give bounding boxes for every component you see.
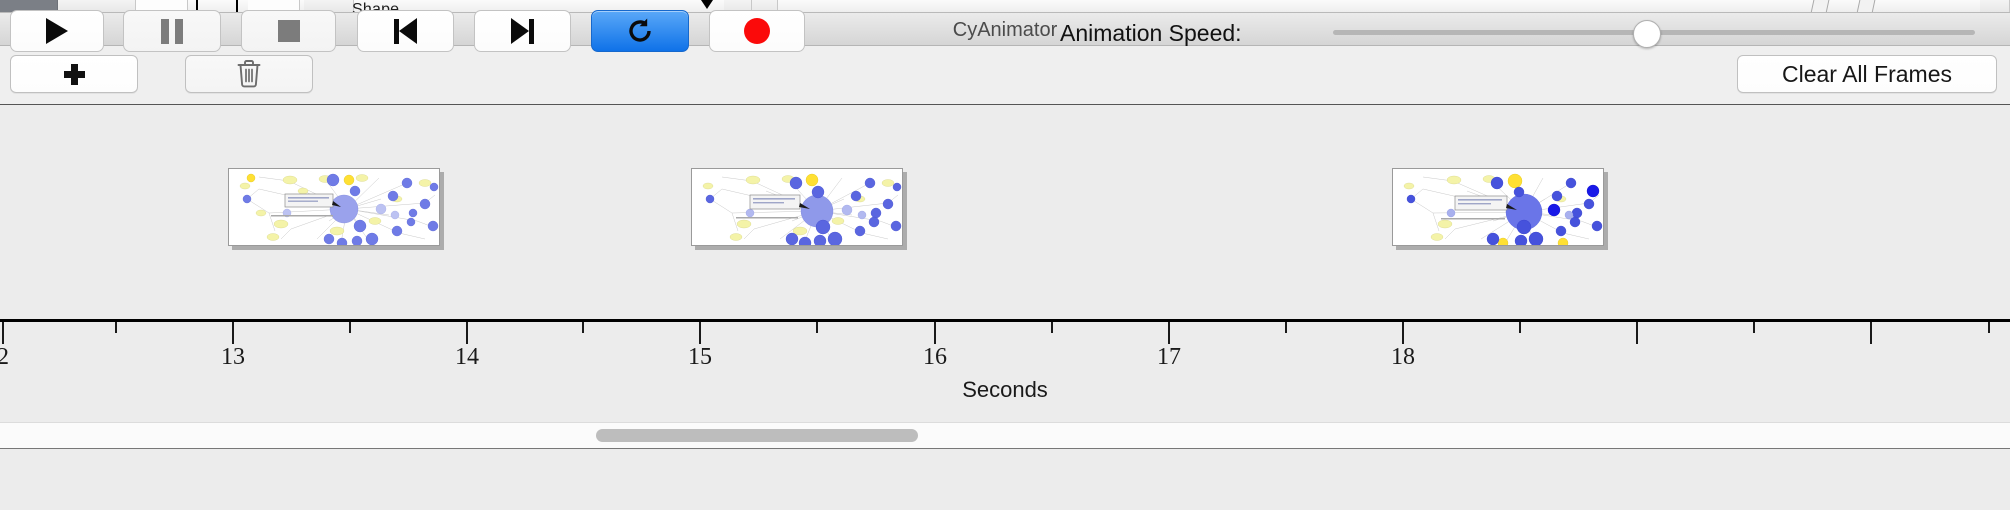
ruler-tick-minor bbox=[1988, 322, 1990, 333]
delete-frame-button[interactable] bbox=[185, 55, 313, 93]
network-graph-preview bbox=[692, 169, 903, 246]
loop-button[interactable] bbox=[591, 10, 689, 52]
ruler-tick-minor bbox=[1753, 322, 1755, 333]
skip-forward-icon bbox=[511, 18, 534, 44]
add-frame-button[interactable] bbox=[10, 55, 138, 93]
ruler-label: 18 bbox=[1391, 344, 1415, 371]
pause-button[interactable] bbox=[123, 10, 221, 52]
ruler-tick-minor bbox=[816, 322, 818, 333]
ruler-label: 16 bbox=[923, 344, 947, 371]
animation-speed-label: Animation Speed: bbox=[1060, 20, 1242, 47]
timeline-scrollbar[interactable] bbox=[0, 422, 2010, 448]
network-graph-preview bbox=[1393, 169, 1604, 246]
ruler-tick-minor bbox=[1285, 322, 1287, 333]
timeline-ruler[interactable]: 2 13 14 15 16 17 18 Seconds bbox=[0, 319, 2010, 422]
loop-icon bbox=[625, 16, 655, 46]
play-button[interactable] bbox=[10, 10, 104, 52]
ruler-tick-major bbox=[2, 322, 4, 344]
bg-slant bbox=[1857, 0, 1876, 13]
ruler-tick-minor bbox=[1519, 322, 1521, 333]
ruler-tick-major bbox=[1402, 322, 1404, 344]
ruler-tick-minor bbox=[582, 322, 584, 333]
bg-notch bbox=[701, 0, 713, 9]
cyanimator-window: Shape CyAnimator Clear All Frames bbox=[0, 0, 2010, 510]
frame-thumbnail[interactable] bbox=[691, 168, 903, 246]
prev-frame-button[interactable] bbox=[357, 10, 454, 52]
skip-back-icon bbox=[394, 18, 417, 44]
record-icon bbox=[744, 18, 770, 44]
ruler-label: 14 bbox=[455, 344, 479, 371]
ruler-tick-major bbox=[1870, 322, 1872, 344]
frames-timeline-panel[interactable] bbox=[0, 105, 2010, 319]
record-button[interactable] bbox=[709, 10, 805, 52]
ruler-tick-major bbox=[1636, 322, 1638, 344]
stop-button[interactable] bbox=[241, 10, 336, 52]
ruler-label: 15 bbox=[688, 344, 712, 371]
bg-slant bbox=[1811, 0, 1830, 13]
ruler-tick-major bbox=[466, 322, 468, 344]
play-icon bbox=[46, 18, 68, 44]
pause-icon bbox=[161, 19, 183, 44]
stop-icon bbox=[278, 20, 300, 42]
ruler-tick-major bbox=[1168, 322, 1170, 344]
network-graph-preview bbox=[229, 169, 440, 246]
ruler-tick-minor bbox=[115, 322, 117, 333]
trash-icon bbox=[236, 59, 262, 89]
bg-tab bbox=[1980, 0, 2010, 13]
animation-speed-slider-thumb[interactable] bbox=[1633, 20, 1661, 48]
playback-control-bar bbox=[0, 448, 2010, 510]
ruler-tick-minor bbox=[349, 322, 351, 333]
frame-thumbnail[interactable] bbox=[1392, 168, 1604, 246]
scrollbar-thumb[interactable] bbox=[596, 429, 918, 442]
ruler-label: 13 bbox=[221, 344, 245, 371]
next-frame-button[interactable] bbox=[474, 10, 571, 52]
bg-tick-mark bbox=[236, 0, 238, 13]
clear-all-frames-button[interactable]: Clear All Frames bbox=[1737, 55, 1997, 93]
axis-title-seconds: Seconds bbox=[0, 377, 2010, 403]
ruler-tick-major bbox=[232, 322, 234, 344]
frame-thumbnail[interactable] bbox=[228, 168, 440, 246]
ruler-tick-major bbox=[934, 322, 936, 344]
ruler-label: 17 bbox=[1157, 344, 1181, 371]
ruler-tick-major bbox=[699, 322, 701, 344]
ruler-baseline bbox=[0, 319, 2010, 322]
plus-icon bbox=[64, 64, 85, 85]
ruler-label: 2 bbox=[0, 344, 9, 371]
ruler-tick-minor bbox=[1051, 322, 1053, 333]
